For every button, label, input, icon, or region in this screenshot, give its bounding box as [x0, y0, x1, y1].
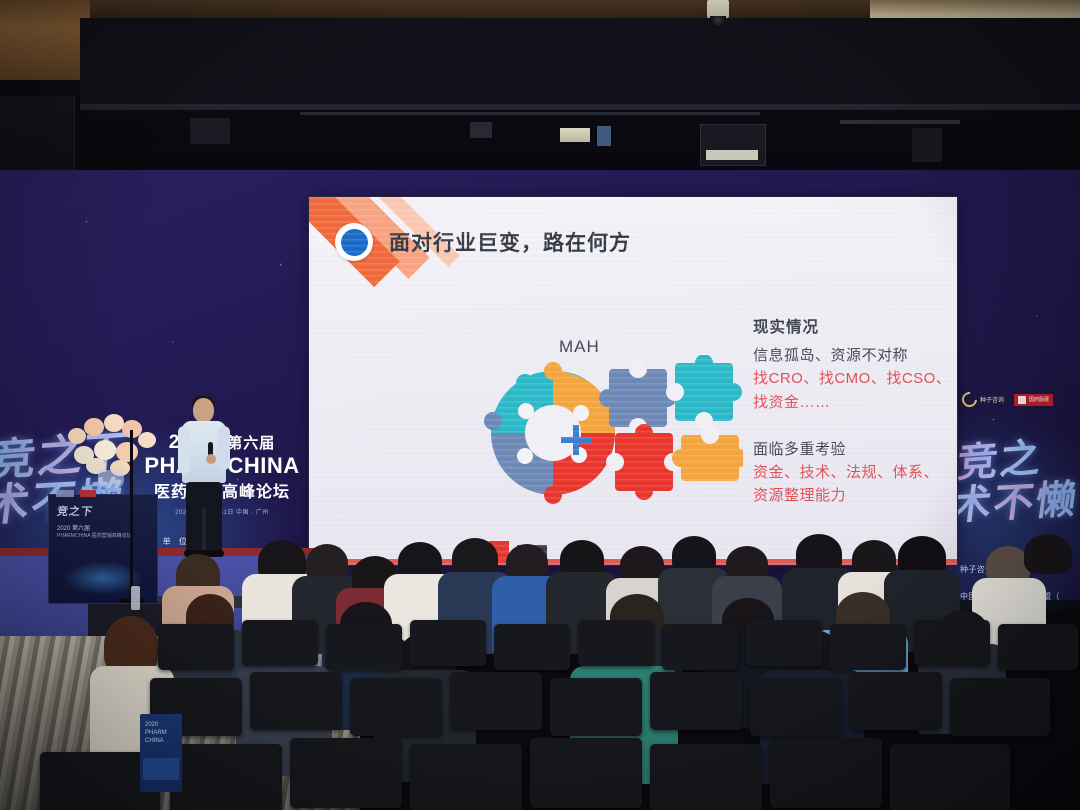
- chair-back: [850, 672, 942, 730]
- chair-back: [650, 672, 742, 730]
- chair-back: [750, 678, 842, 736]
- chair-back: [998, 624, 1078, 670]
- flower-petal: [116, 442, 138, 462]
- ceiling-rig-a: [190, 118, 230, 144]
- mah-label: MAH: [559, 337, 600, 357]
- flower-vase: [98, 470, 124, 488]
- speaker-hand: [206, 454, 216, 464]
- text-block-1-red-line-0: 资金、技术、法规、体系、: [753, 463, 953, 483]
- ceiling-rail-right: [840, 120, 960, 124]
- tote-bag-line1: 2020: [145, 722, 167, 730]
- ceiling-projector-face: [706, 150, 758, 160]
- ceiling-dark-panel: [80, 18, 1080, 106]
- flower-petal: [68, 428, 86, 444]
- partner-logo: 国药励展: [1014, 394, 1053, 406]
- chair-back: [410, 620, 486, 666]
- chair-back: [410, 744, 522, 810]
- flower-petal: [94, 440, 116, 460]
- chair-back: [770, 738, 882, 808]
- ceiling-rig-right: [912, 128, 942, 162]
- chair-back: [662, 624, 738, 670]
- speaker-head: [193, 398, 214, 423]
- chair-back: [250, 672, 342, 730]
- chair-back: [890, 744, 1010, 810]
- chair-back: [450, 672, 542, 730]
- slide-text-column: 现实情况 信息孤岛、资源不对称 找CRO、找CMO、找CSO、 找资金…… 面临…: [753, 315, 953, 507]
- chair-back: [530, 738, 642, 808]
- text-block-0-red-line-1: 找资金……: [753, 393, 953, 413]
- chair-back: [326, 624, 402, 670]
- text-block-1-dark-line: 面临多重考验: [753, 440, 953, 460]
- chair-back: [290, 738, 402, 808]
- backdrop-edition: 第六届: [227, 435, 275, 452]
- text-block-0-red-line-0: 找CRO、找CMO、找CSO、: [753, 369, 953, 389]
- chair-back: [170, 744, 282, 810]
- chair-back: [578, 620, 654, 666]
- ceiling-blue-panel: [597, 126, 611, 146]
- ceiling-rig-b: [470, 122, 492, 138]
- flower-arrangement: [62, 412, 158, 482]
- tote-bag-text: 2020 PHARM CHINA: [145, 722, 167, 745]
- seed-logo-icon: [959, 389, 980, 410]
- circular-puzzle-icon: [484, 362, 615, 504]
- text-block-0-heading: 现实情况: [753, 315, 953, 337]
- grid-puzzle-icon: [599, 355, 743, 500]
- partner-logo-text: 国药励展: [1029, 396, 1049, 403]
- chair-back: [914, 620, 990, 666]
- flower-petal: [84, 418, 104, 436]
- seed-consulting-logo: 种子咨询: [962, 392, 1004, 407]
- flower-petal: [104, 414, 124, 432]
- conference-hall-photo: 竞之下 术不懒 竞之 术不懒 2020 第六届 PHARMCHINA 医药营销高…: [0, 0, 1080, 810]
- chair-back: [242, 620, 318, 666]
- podium-logo-right-icon: [80, 490, 96, 497]
- chair-back: [494, 624, 570, 670]
- ceiling-sign-panel: [560, 128, 590, 142]
- chair-back: [550, 678, 642, 736]
- tote-bag-line2: PHARM: [145, 730, 167, 738]
- backdrop-logo-row-right: 种子咨询 国药励展: [962, 392, 1053, 407]
- conference-tote-bag: 2020 PHARM CHINA: [140, 714, 182, 792]
- speaker-arm-left: [178, 426, 190, 474]
- seed-logo-text: 种子咨询: [980, 395, 1004, 404]
- chair-back: [350, 678, 442, 736]
- projection-screen: 面对行业巨变，路在何方 MAH: [308, 196, 958, 566]
- tote-bag-panel: [143, 758, 179, 780]
- chair-back: [830, 624, 906, 670]
- text-block-1-red-line-1: 资源整理能力: [753, 486, 953, 506]
- chair-back: [650, 744, 762, 810]
- text-block-0-dark-line: 信息孤岛、资源不对称: [753, 346, 953, 366]
- lighting-truss-secondary: [300, 112, 760, 115]
- podium-logo-row: [56, 490, 96, 497]
- partner-logo-icon: [1018, 396, 1026, 404]
- lighting-truss: [80, 104, 1080, 110]
- audience-head: [1024, 534, 1072, 574]
- podium-logo-left-icon: [56, 490, 74, 497]
- plus-operator-icon: [561, 425, 591, 455]
- flower-petal: [138, 432, 156, 448]
- chair-back: [158, 624, 234, 670]
- slide-title-row: 面对行业巨变，路在何方: [335, 223, 631, 261]
- chair-back: [950, 678, 1050, 736]
- chair-back: [746, 620, 822, 666]
- tote-bag-line3: CHINA: [145, 738, 167, 746]
- blue-circle-bullet-icon: [335, 223, 373, 261]
- text-block-spacer: [753, 413, 953, 431]
- slide-title: 面对行业巨变，路在何方: [389, 227, 631, 257]
- podium-art-line: 竞之下: [56, 503, 150, 519]
- speaker-arm-right: [218, 426, 230, 470]
